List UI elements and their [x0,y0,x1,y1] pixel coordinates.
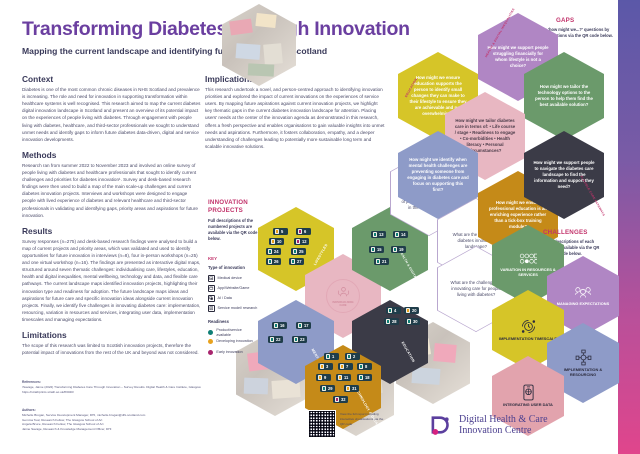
project-number: 14 [401,232,406,237]
ai-data-icon [406,308,410,312]
key-row-service-model-research: Service model/ research [208,305,257,312]
people-group-icon [574,286,592,300]
gradient-edge-bar [618,0,640,454]
project-number: 2 [353,354,355,359]
references-text: ¹Savage, Jaime (2022) Transforming Diabe… [22,385,212,394]
project-number: 17 [304,323,309,328]
key-row-medical-device: Medical device [208,275,242,282]
key-readiness-heading: Readiness [208,319,229,324]
ai-data-icon [208,295,215,302]
logo-text: Digital Health & Care Innovation Centre [459,414,548,436]
person-award-icon [336,285,351,300]
project-number: 4 [394,308,396,313]
ai-data-icon [340,364,344,368]
project-chip-12[interactable]: 12 [294,238,309,245]
project-number: 12 [302,239,307,244]
app-website-game-icon [298,323,302,327]
app-website-game-icon [376,259,380,263]
dhi-logo-mark [428,412,454,438]
app-website-game-icon [373,232,377,236]
ai-data-icon [338,375,342,379]
app-website-game-icon [291,259,295,263]
implications-body: This research undertook a novel, and per… [205,86,385,150]
project-chip-17[interactable]: 17 [296,322,311,329]
qr-code-block[interactable]: View the full report including interacti… [308,410,388,438]
project-chip-13[interactable]: 13 [371,231,386,238]
ai-data-icon [318,375,322,379]
app-website-game-icon [268,259,272,263]
context-heading: Context [22,74,202,84]
individualising-care-badge: INDIVIDUALISING CARE [326,279,360,313]
app-website-game-icon [270,337,274,341]
gap-question-text: How might we tailor the technology optio… [524,84,604,108]
app-website-game-icon [294,337,298,341]
ai-data-icon [359,364,363,368]
implications-heading: Implications [205,74,385,84]
project-number: 10 [277,239,282,244]
project-chip-25[interactable]: 25 [291,248,306,255]
key-label-medical-device: Medical device [218,276,242,281]
key-heading: KEY [208,256,217,261]
project-number: 29 [328,386,333,391]
project-chip-15[interactable]: 15 [369,246,384,253]
project-chip-20[interactable]: 20 [404,307,419,314]
project-number: 20 [412,308,417,313]
app-website-game-icon [393,247,397,251]
project-number: 30 [413,319,418,324]
key-label-ai-data: AI / Data [218,296,232,301]
project-number: 19 [399,247,404,252]
app-website-game-icon [326,354,330,358]
challenge-label: MANAGING EXPECTATIONS [551,302,615,307]
project-number: 25 [299,249,304,254]
clock-cycle-icon [520,318,537,335]
qr-code-icon[interactable] [308,410,336,438]
network-nodes-icon [519,253,537,266]
project-number: 15 [377,247,382,252]
methods-heading: Methods [22,150,202,160]
logo-line1: Digital Health & Care [459,414,548,425]
project-number: 1 [332,354,334,359]
project-chip-26[interactable]: 26 [266,258,281,265]
context-body: Diabetes is one of the most common chron… [22,86,202,143]
key-row-readiness-developing: Developing innovation [208,339,253,344]
authors-block: Authors: Michelle Brogan, Service Develo… [22,408,222,432]
organisation-logo: Digital Health & Care Innovation Centre [428,412,548,438]
project-chip-7[interactable]: 7 [338,363,353,370]
center-badge-line2: CARE [339,304,346,307]
project-chip-18[interactable]: 18 [357,374,372,381]
project-number: 28 [392,319,397,324]
poster-canvas: Transforming Diabetes Through Innovation… [0,0,640,454]
project-chip-23[interactable]: 23 [292,336,307,343]
project-chip-6[interactable]: 6 [296,228,311,235]
project-chip-30[interactable]: 30 [405,318,420,325]
project-chip-21[interactable]: 21 [374,258,389,265]
key-label-readiness-early: Early innovation [216,350,242,355]
project-number: 3 [326,364,328,369]
project-chip-9[interactable]: 9 [316,374,331,381]
project-number: 32 [341,397,346,402]
ai-data-icon [335,397,339,401]
project-chip-2[interactable]: 2 [345,353,360,360]
app-website-game-icon [395,232,399,236]
project-chip-8[interactable]: 8 [357,363,372,370]
references-block: References: ¹Savage, Jaime (2022) Transf… [22,380,212,394]
key-row-readiness-available: Product/service available [208,328,256,337]
app-website-game-icon [296,239,300,243]
project-number: 31 [352,386,357,391]
project-chip-19[interactable]: 19 [391,246,406,253]
project-chip-31[interactable]: 31 [344,385,359,392]
project-number: 27 [297,259,302,264]
author-line: Jaime Savage, Research & Knowledge Manag… [22,427,222,432]
app-website-game-icon [359,375,363,379]
results-heading: Results [22,226,202,236]
app-website-game-icon [208,285,215,292]
gap-question-text: How might we identify when mental health… [398,157,478,193]
methods-body: Research ran from summer 2022 to Novembe… [22,162,202,219]
service-model-research-icon [208,305,215,312]
limitations-heading: Limitations [22,330,202,340]
left-text-column: Context Diabetes is one of the most comm… [22,74,202,356]
ai-data-icon [275,229,279,233]
challenge-label: INTEGRATING USER DATA [497,403,559,408]
readiness-dot-developing [208,339,213,344]
project-number: 22 [276,337,281,342]
project-number: 21 [382,259,387,264]
project-chip-24[interactable]: 24 [266,248,281,255]
gear-network-icon [575,349,592,366]
key-row-ai-data: AI / Data [208,295,232,302]
project-chip-3[interactable]: 3 [318,363,333,370]
project-chip-1[interactable]: 1 [324,353,339,360]
app-website-game-icon [371,247,375,251]
project-number: 18 [365,375,370,380]
results-body: Survey responses (n=275) and desk-based … [22,238,202,323]
project-number: 9 [324,375,326,380]
app-website-game-icon [274,323,278,327]
innovation-projects-description: Full descriptions of the numbered projec… [208,218,264,242]
gaps-heading: GAPS [556,17,574,24]
app-website-game-icon [388,308,392,312]
page-title: Transforming Diabetes Through Innovation [22,18,410,41]
logo-line2: Innovation Centre [459,425,531,436]
qr-code-caption: View the full report including interacti… [340,410,388,426]
project-chip-28[interactable]: 28 [384,318,399,325]
ai-data-icon [346,386,350,390]
mobile-data-icon [522,384,535,401]
project-chip-22[interactable]: 22 [268,336,283,343]
limitations-body: The scope of this research was limited t… [22,342,202,356]
readiness-dot-available [208,330,213,335]
key-type-heading: Type of innovation [208,265,245,270]
ai-data-icon [271,239,275,243]
project-number: 23 [300,337,305,342]
project-number: 8 [365,364,367,369]
project-number: 16 [280,323,285,328]
gap-question-text: How might we support people to navigate … [524,160,604,190]
project-chip-14[interactable]: 14 [393,231,408,238]
app-website-game-icon [386,319,390,323]
project-number: 5 [281,229,283,234]
project-number: 11 [344,375,348,380]
project-chip-16[interactable]: 16 [272,322,287,329]
key-label-service-model-research: Service model/ research [218,306,258,311]
right-text-column: Implications This research undertook a n… [205,74,385,150]
app-website-game-icon [298,229,302,233]
app-website-game-icon [347,354,351,358]
key-label-readiness-available: Product/service available [216,328,256,337]
key-row-readiness-early: Early innovation [208,350,243,355]
key-row-app-website-game: App/Website/Game [208,285,249,292]
project-number: 7 [346,364,348,369]
project-chip-32[interactable]: 32 [333,396,348,403]
project-number: 26 [274,259,279,264]
key-label-readiness-developing: Developing innovation [216,339,252,344]
medical-device-icon [208,275,215,282]
app-website-game-icon [268,249,272,253]
project-chip-4[interactable]: 4 [386,307,401,314]
project-chip-27[interactable]: 27 [289,258,304,265]
project-chip-29[interactable]: 29 [320,385,335,392]
innovation-projects-heading-line1: INNOVATION [208,199,248,206]
readiness-dot-early [208,350,213,355]
project-number: 24 [274,249,279,254]
app-website-game-icon [407,319,411,323]
service-model-research-icon [322,386,326,390]
innovation-projects-heading-line2: PROJECTS [208,207,243,214]
project-chip-11[interactable]: 11 [336,374,351,381]
medical-device-icon [320,364,324,368]
project-chip-5[interactable]: 5 [273,228,288,235]
challenges-heading: CHALLENGES [543,229,588,236]
project-number: 13 [379,232,384,237]
ai-data-icon [293,249,297,253]
key-label-app-website-game: App/Website/Game [218,286,250,291]
project-number: 6 [304,229,306,234]
project-chip-10[interactable]: 10 [269,238,284,245]
